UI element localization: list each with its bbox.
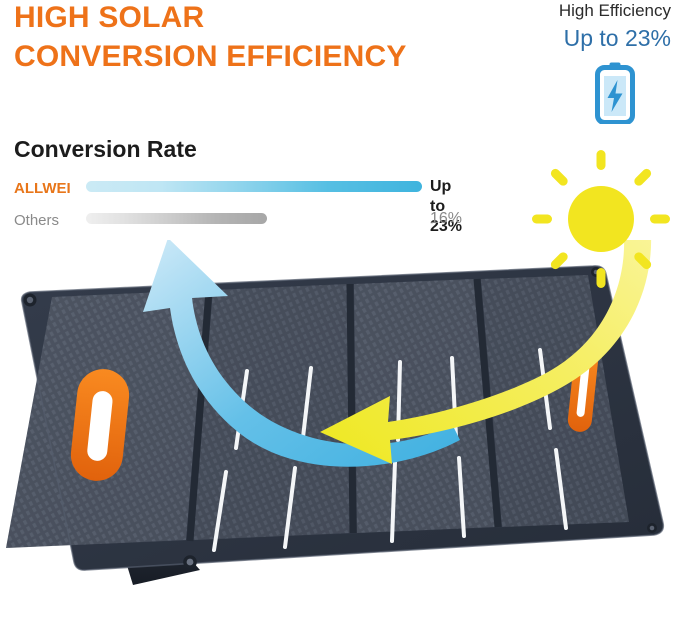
efficiency-badge-title: High Efficiency (491, 0, 671, 22)
bar-track-allwei (86, 181, 422, 192)
page-title: HIGH SOLAR CONVERSION EFFICIENCY (14, 0, 524, 76)
bar-value-others: 16% (430, 209, 462, 229)
headline-line-2: CONVERSION EFFICIENCY (14, 37, 524, 76)
bar-label-others: Others (14, 211, 82, 231)
solar-panel-illustration (0, 240, 679, 634)
product-illustration (0, 240, 679, 634)
bar-track-others (86, 213, 267, 224)
marketing-graphic: HIGH SOLAR CONVERSION EFFICIENCY High Ef… (0, 0, 679, 634)
efficiency-badge: High Efficiency Up to 23% (491, 0, 671, 53)
sun-icon (530, 148, 672, 290)
efficiency-badge-value: Up to 23% (491, 23, 671, 53)
battery-charging-icon (593, 62, 637, 124)
conversion-rate-title: Conversion Rate (14, 136, 197, 163)
headline-line-1: HIGH SOLAR (14, 1, 204, 34)
bar-fill-allwei (86, 181, 422, 192)
bar-fill-others (86, 213, 267, 224)
bar-label-allwei: ALLWEI (14, 179, 82, 199)
